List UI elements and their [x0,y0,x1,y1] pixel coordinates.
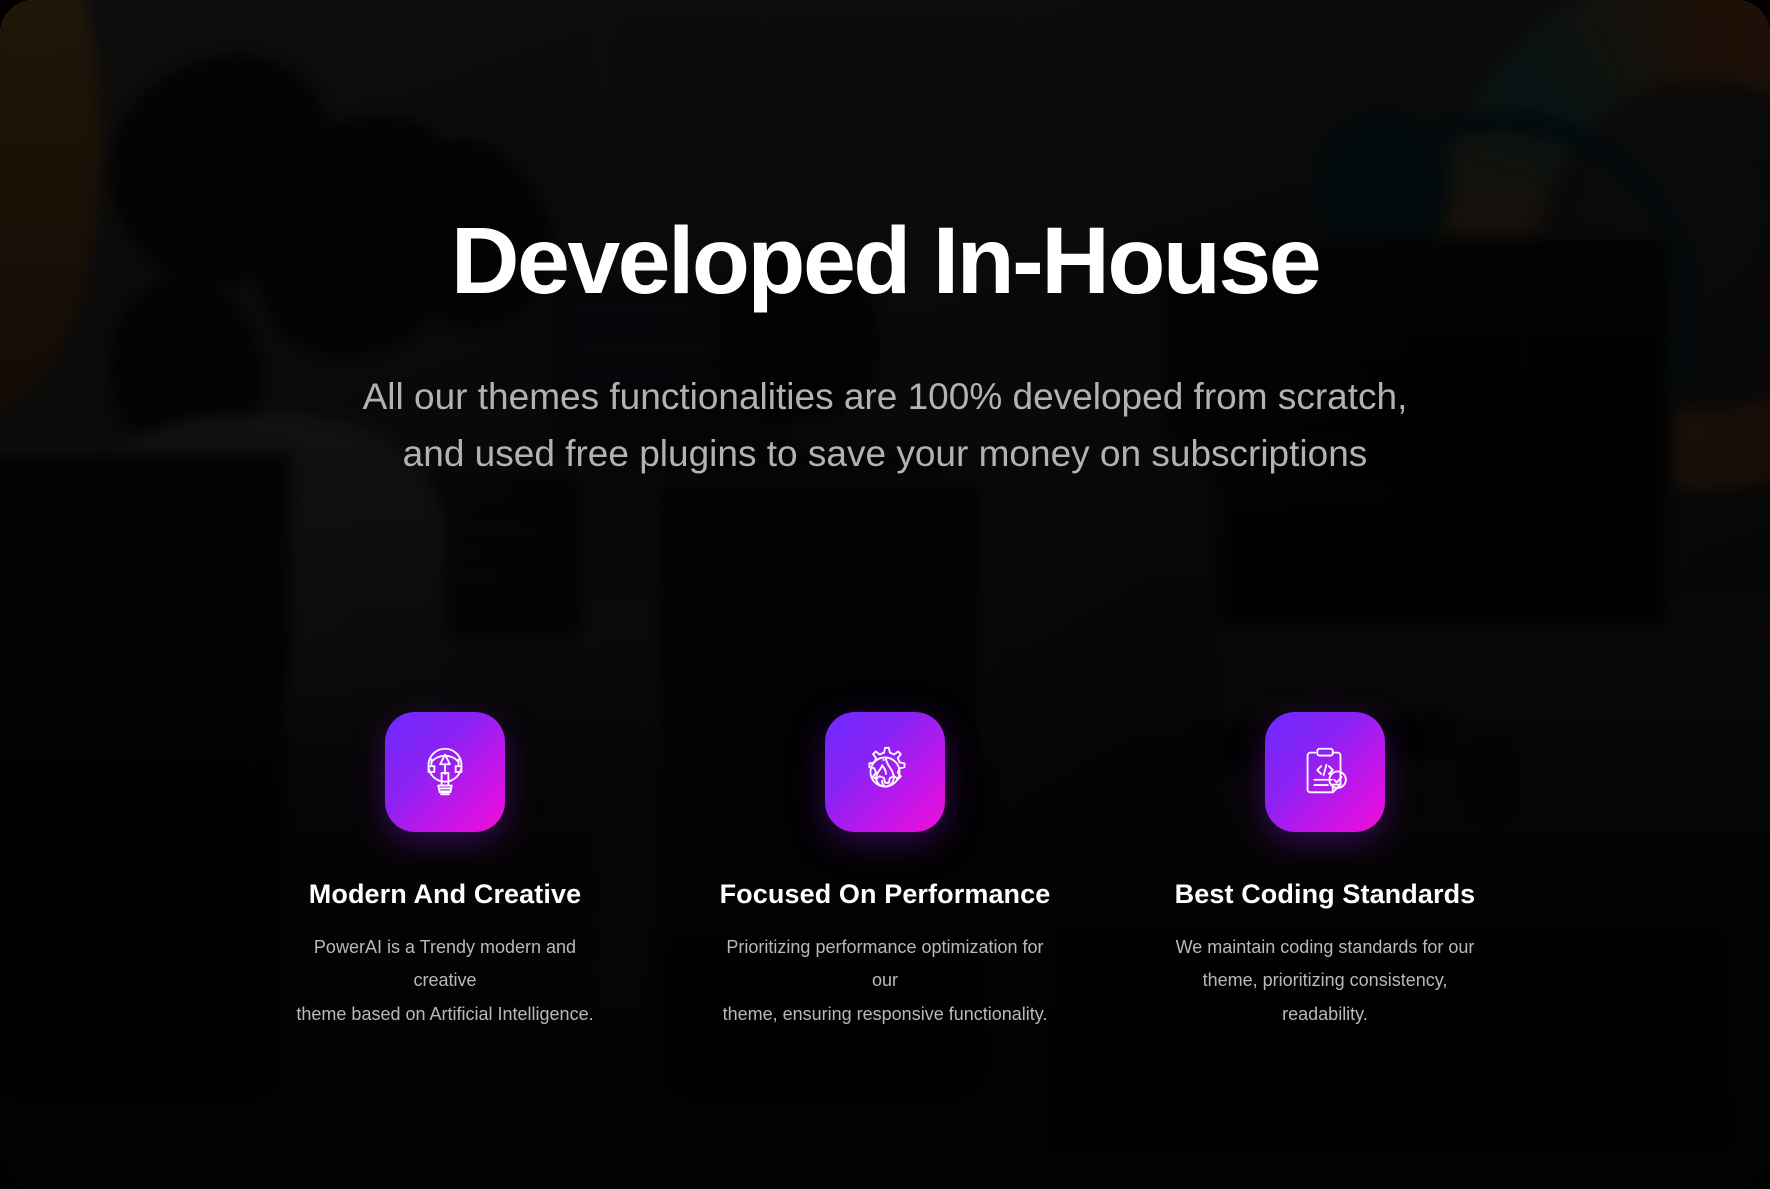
feature-desc-line-1: We maintain coding standards for our [1176,937,1475,957]
feature-card-focused-on-performance: Focused On Performance Prioritizing perf… [690,712,1080,1031]
page-title: Developed In-House [451,212,1319,312]
hero-subtitle-line-1: All our themes functionalities are 100% … [363,376,1408,417]
feature-desc-line-2: theme, ensuring responsive functionality… [723,1004,1048,1024]
feature-desc-line-2: theme, prioritizing consistency, readabi… [1203,970,1448,1023]
feature-title: Modern And Creative [309,879,581,910]
feature-desc-line-2: theme based on Artificial Intelligence. [296,1004,593,1024]
lightbulb-pen-icon [385,712,505,832]
feature-desc-line-1: PowerAI is a Trendy modern and creative [314,937,576,990]
hero-section: Developed In-House All our themes functi… [0,0,1770,1189]
hero-content: Developed In-House All our themes functi… [0,0,1770,1189]
hero-subtitle: All our themes functionalities are 100% … [363,368,1408,483]
feature-title: Best Coding Standards [1175,879,1476,910]
feature-list: Modern And Creative PowerAI is a Trendy … [250,712,1520,1031]
feature-title: Focused On Performance [720,879,1051,910]
feature-desc-line-1: Prioritizing performance optimization fo… [726,937,1043,990]
hero-subtitle-line-2: and used free plugins to save your money… [403,433,1368,474]
feature-description: Prioritizing performance optimization fo… [720,931,1050,1031]
feature-card-best-coding-standards: Best Coding Standards We maintain coding… [1130,712,1520,1031]
feature-description: We maintain coding standards for our the… [1160,931,1490,1031]
feature-card-modern-and-creative: Modern And Creative PowerAI is a Trendy … [250,712,640,1031]
feature-description: PowerAI is a Trendy modern and creative … [280,931,610,1031]
clipboard-code-check-icon [1265,712,1385,832]
gear-flame-icon [825,712,945,832]
